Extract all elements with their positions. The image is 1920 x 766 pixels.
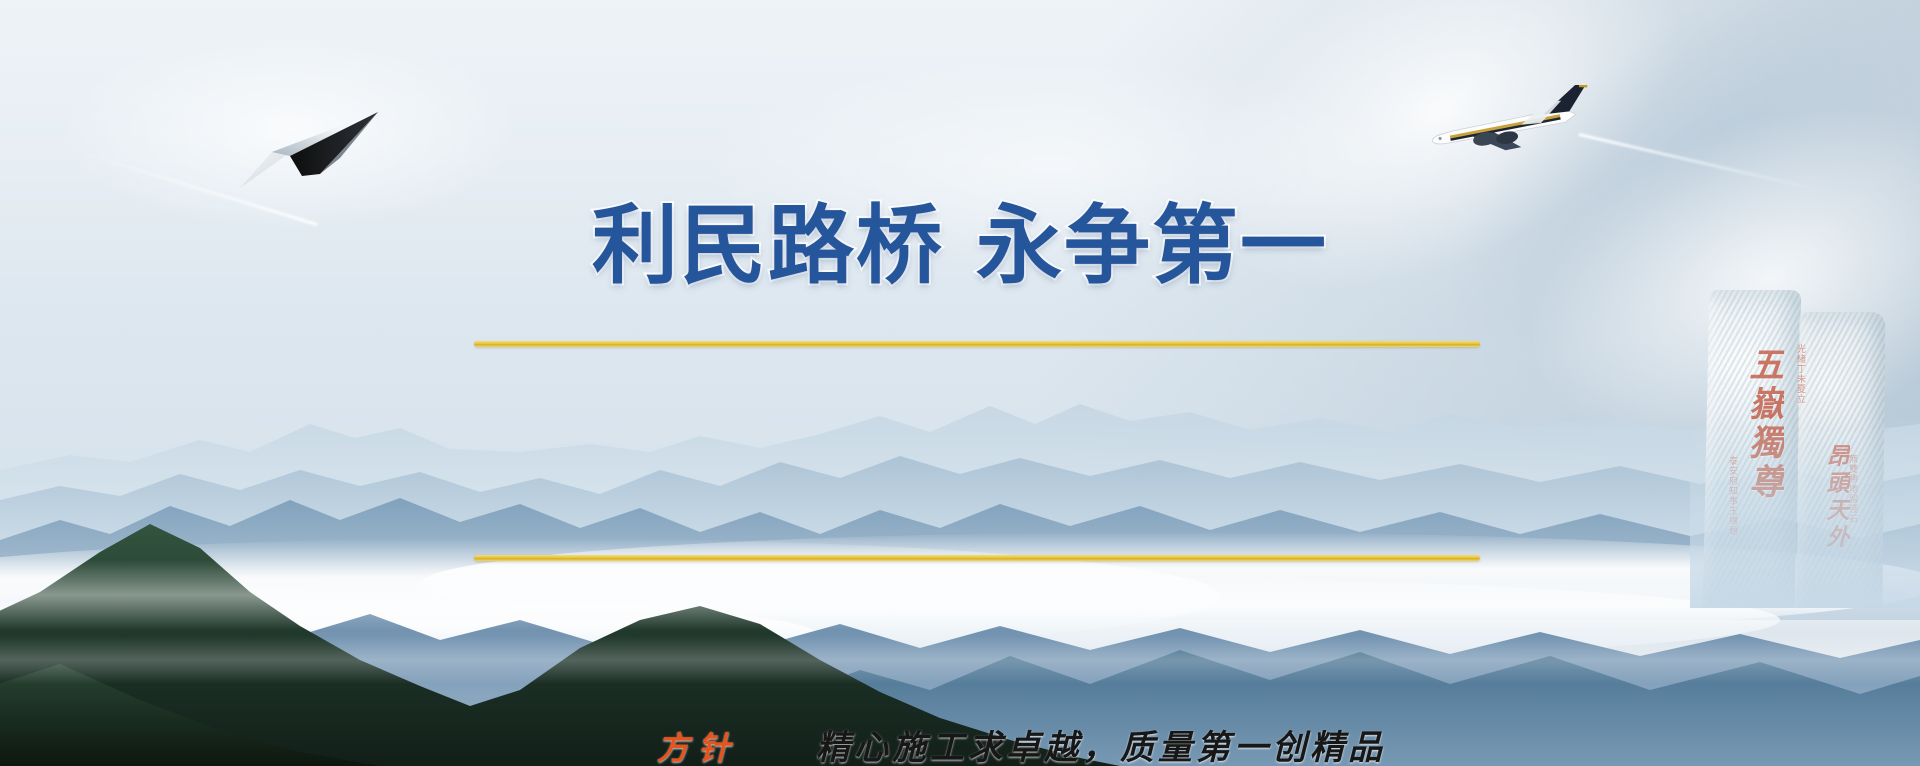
jet-airplane-icon [1425, 85, 1615, 165]
policy-statement: 精心施工求卓越，质量第一创精品 [816, 720, 1386, 766]
paper-dart-icon [228, 96, 388, 196]
hero-banner: 五嶽獨尊 昂頭天外 光緒丁未夏立 泰安府知事玉構題 無雙勝地留殘石 [0, 0, 1920, 766]
slogan-block: 方针 质量 目标 精心施工求卓越，质量第一创精品 工程合格率达100%，争创优良 [0, 341, 1920, 556]
policy-label: 方针 [657, 723, 739, 766]
page-title: 利民路桥 永争第一 [0, 203, 1920, 289]
